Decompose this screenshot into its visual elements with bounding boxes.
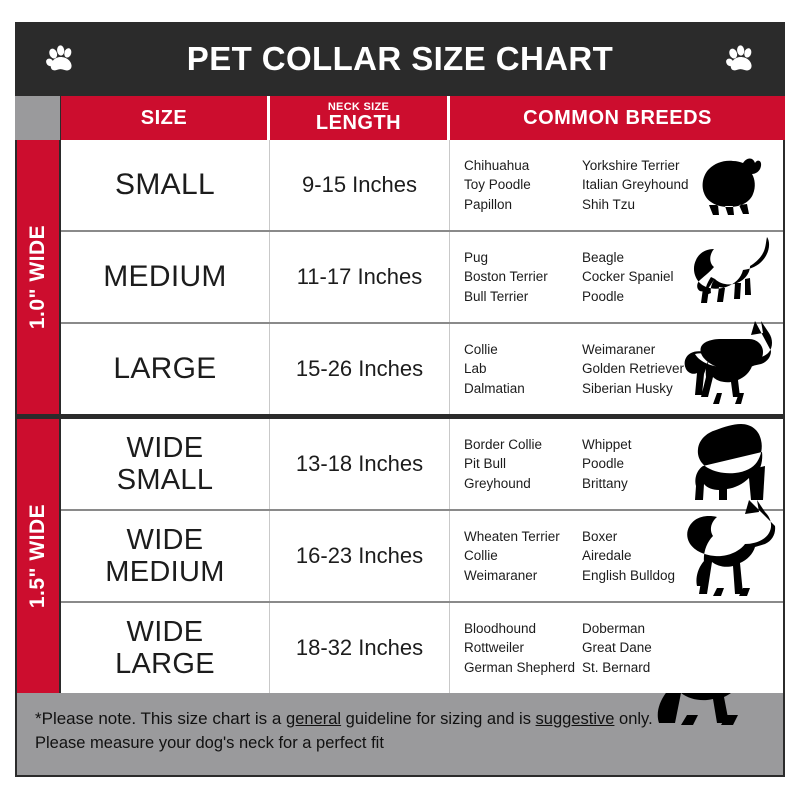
group-label-text: 1.5" WIDE	[26, 504, 50, 608]
column-header-length-label: LENGTH	[316, 113, 401, 134]
breed-item: Collie	[464, 340, 582, 360]
breed-item: Pug	[464, 248, 582, 268]
cell-length: 11-17 Inches	[270, 232, 450, 322]
table-body: 1.0" WIDE SMALL 9-15 Inches Chihuahua To…	[15, 140, 785, 693]
cell-size: SMALL	[61, 140, 270, 230]
breed-item: Wheaten Terrier	[464, 527, 582, 547]
table-row: MEDIUM 11-17 Inches Pug Boston Terrier B…	[61, 230, 783, 322]
column-header-size-label: SIZE	[141, 108, 187, 129]
footer-line-1: *Please note. This size chart is a gener…	[35, 707, 783, 732]
footer-note: *Please note. This size chart is a gener…	[15, 693, 785, 777]
size-label: SMALL	[115, 168, 215, 202]
size-label: WIDE MEDIUM	[105, 524, 224, 589]
breed-item: Great Dane	[582, 638, 712, 658]
breed-item: Boston Terrier	[464, 267, 582, 287]
breed-item: Airedale	[582, 546, 712, 566]
footer-line-1-part-c: only.	[614, 710, 652, 728]
breed-item: Poodle	[582, 287, 712, 307]
breed-item: Siberian Husky	[582, 379, 712, 399]
breed-item: Bloodhound	[464, 619, 582, 639]
breed-item: Yorkshire Terrier	[582, 156, 712, 176]
cell-size: WIDE SMALL	[61, 419, 270, 509]
breed-item: St. Bernard	[582, 658, 712, 678]
breed-item: Cocker Spaniel	[582, 267, 712, 287]
column-header-breeds-label: COMMON BREEDS	[523, 108, 712, 129]
column-header-breeds: COMMON BREEDS	[450, 96, 785, 140]
cell-breeds: Pug Boston Terrier Bull Terrier Beagle C…	[450, 232, 783, 322]
footer-underline-suggestive: suggestive	[536, 710, 615, 728]
footer-underline-general: general	[286, 710, 341, 728]
breed-column-1: Wheaten Terrier Collie Weimaraner	[464, 527, 582, 586]
group-1-0-wide: 1.0" WIDE SMALL 9-15 Inches Chihuahua To…	[17, 140, 783, 414]
cell-length: 16-23 Inches	[270, 511, 450, 601]
breed-column-2: Boxer Airedale English Bulldog	[582, 527, 712, 586]
table-row: WIDE MEDIUM 16-23 Inches Wheaten Terrier…	[61, 509, 783, 601]
cell-breeds: Chihuahua Toy Poodle Papillon Yorkshire …	[450, 140, 783, 230]
page-title: PET COLLAR SIZE CHART	[187, 40, 613, 78]
breed-item: Weimaraner	[582, 340, 712, 360]
group-1-5-wide: 1.5" WIDE WIDE SMALL 13-18 Inches Border…	[17, 414, 783, 693]
breed-item: Toy Poodle	[464, 175, 582, 195]
breed-column-2: Beagle Cocker Spaniel Poodle	[582, 248, 712, 307]
breed-item: Shih Tzu	[582, 195, 712, 215]
breed-column-2: Yorkshire Terrier Italian Greyhound Shih…	[582, 156, 712, 215]
breed-item: Greyhound	[464, 474, 582, 494]
cell-breeds: Bloodhound Rottweiler German Shepherd Do…	[450, 603, 783, 693]
cell-breeds: Border Collie Pit Bull Greyhound Whippet…	[450, 419, 783, 509]
breed-item: Collie	[464, 546, 582, 566]
breed-item: Border Collie	[464, 435, 582, 455]
cell-length: 15-26 Inches	[270, 324, 450, 414]
breed-column-1: Border Collie Pit Bull Greyhound	[464, 435, 582, 494]
breed-column-2: Weimaraner Golden Retriever Siberian Hus…	[582, 340, 712, 399]
group-label-text: 1.0" WIDE	[26, 225, 50, 329]
size-label: WIDE SMALL	[117, 432, 214, 497]
breed-column-1: Bloodhound Rottweiler German Shepherd	[464, 619, 582, 678]
cell-size: LARGE	[61, 324, 270, 414]
breed-column-1: Pug Boston Terrier Bull Terrier	[464, 248, 582, 307]
breed-item: Whippet	[582, 435, 712, 455]
chart-header: PET COLLAR SIZE CHART	[15, 22, 785, 96]
breed-item: Poodle	[582, 454, 712, 474]
table-column-headers: SIZE NECK SIZE LENGTH COMMON BREEDS	[15, 96, 785, 140]
cell-breeds: Collie Lab Dalmatian Weimaraner Golden R…	[450, 324, 783, 414]
breed-item: Lab	[464, 359, 582, 379]
group-label-1-5-wide: 1.5" WIDE	[17, 419, 61, 693]
breed-item: Brittany	[582, 474, 712, 494]
breed-column-2: Whippet Poodle Brittany	[582, 435, 712, 494]
breed-column-1: Collie Lab Dalmatian	[464, 340, 582, 399]
table-row: SMALL 9-15 Inches Chihuahua Toy Poodle P…	[61, 140, 783, 230]
pet-collar-size-chart: PET COLLAR SIZE CHART SIZE NECK SIZE LEN…	[15, 22, 785, 780]
breed-column-2: Doberman Great Dane St. Bernard	[582, 619, 712, 678]
cell-size: MEDIUM	[61, 232, 270, 322]
footer-line-1-part-b: guideline for sizing and is	[341, 710, 535, 728]
table-row: LARGE 15-26 Inches Collie Lab Dalmatian …	[61, 322, 783, 414]
cell-breeds: Wheaten Terrier Collie Weimaraner Boxer …	[450, 511, 783, 601]
breed-item: Doberman	[582, 619, 712, 639]
breed-item: Boxer	[582, 527, 712, 547]
cell-length: 9-15 Inches	[270, 140, 450, 230]
column-header-size: SIZE	[61, 96, 270, 140]
paw-print-icon	[43, 42, 77, 76]
breed-item: Dalmatian	[464, 379, 582, 399]
breed-item: Beagle	[582, 248, 712, 268]
size-label: MEDIUM	[103, 260, 226, 294]
breed-item: Papillon	[464, 195, 582, 215]
cell-size: WIDE MEDIUM	[61, 511, 270, 601]
breed-item: Bull Terrier	[464, 287, 582, 307]
footer-line-2: Please measure your dog's neck for a per…	[35, 732, 783, 756]
cell-length: 13-18 Inches	[270, 419, 450, 509]
cell-size: WIDE LARGE	[61, 603, 270, 693]
breed-item: Golden Retriever	[582, 359, 712, 379]
footer-line-1-part-a: *Please note. This size chart is a	[35, 709, 286, 728]
breed-item: English Bulldog	[582, 566, 712, 586]
size-label: WIDE LARGE	[115, 616, 215, 681]
cell-length: 18-32 Inches	[270, 603, 450, 693]
breed-item: Pit Bull	[464, 454, 582, 474]
table-row: WIDE LARGE 18-32 Inches Bloodhound Rottw…	[61, 601, 783, 693]
corner-spacer-cell	[15, 96, 61, 140]
breed-item: Chihuahua	[464, 156, 582, 176]
breed-item: Rottweiler	[464, 638, 582, 658]
group-label-1-0-wide: 1.0" WIDE	[17, 140, 61, 414]
paw-print-icon	[723, 42, 757, 76]
column-header-length: NECK SIZE LENGTH	[270, 96, 450, 140]
breed-item: German Shepherd	[464, 658, 582, 678]
breed-column-1: Chihuahua Toy Poodle Papillon	[464, 156, 582, 215]
breed-item: Weimaraner	[464, 566, 582, 586]
breed-item: Italian Greyhound	[582, 175, 712, 195]
size-label: LARGE	[113, 352, 216, 386]
table-row: WIDE SMALL 13-18 Inches Border Collie Pi…	[61, 419, 783, 509]
